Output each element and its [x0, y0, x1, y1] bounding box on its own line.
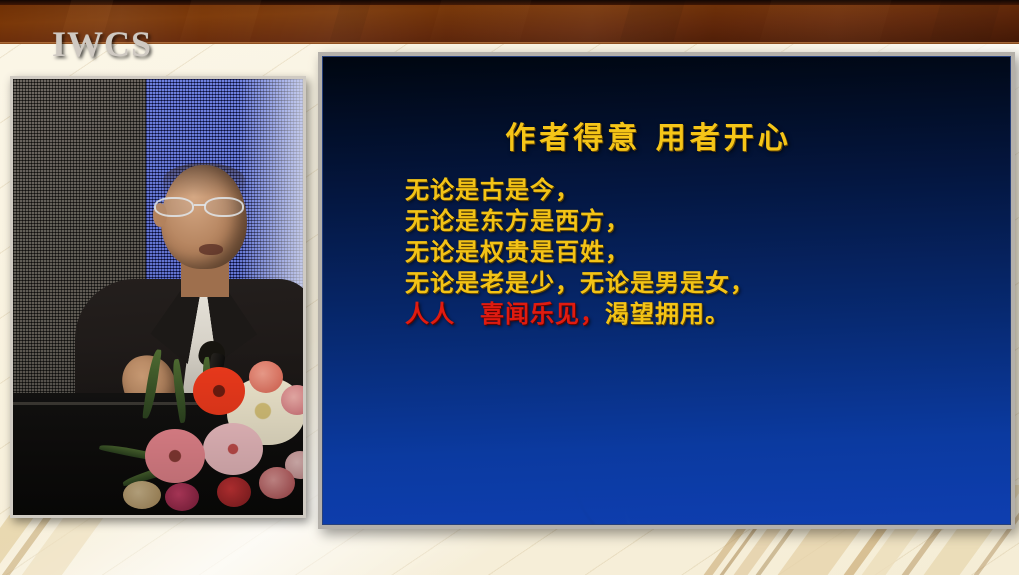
video-frame: IWCS — [0, 0, 1019, 575]
slide-body-segment: 无论是权贵是百姓， — [405, 238, 630, 266]
slide-body-segment: 喜闻乐见， — [480, 300, 605, 328]
presentation-slide-frame: 作者得意 用者开心 无论是古是今，无论是东方是西方，无论是权贵是百姓，无论是老是… — [318, 52, 1015, 529]
photo-vignette — [13, 79, 303, 515]
slide-body-segment: 无论是古是今， — [405, 176, 580, 204]
slide-body-line: 无论是古是今， — [405, 175, 980, 206]
banner-bottom-edge — [0, 42, 1019, 44]
slide-body-segment: 无论是东方是西方， — [405, 207, 630, 235]
top-banner — [0, 0, 1019, 44]
presentation-slide: 作者得意 用者开心 无论是古是今，无论是东方是西方，无论是权贵是百姓，无论是老是… — [322, 56, 1011, 525]
slide-body-text: 无论是古是今，无论是东方是西方，无论是权贵是百姓，无论是老是少，无论是男是女，人… — [405, 175, 980, 330]
speaker-photo-frame — [10, 76, 306, 518]
speaker-photo — [13, 79, 303, 515]
slide-body-segment: 渴望拥用。 — [605, 300, 730, 328]
slide-body-line: 无论是权贵是百姓， — [405, 237, 980, 268]
slide-title: 作者得意 用者开心 — [323, 113, 1010, 157]
slide-body-segment: 无论是老是少，无论是男是女， — [405, 269, 755, 297]
slide-body-segment — [455, 300, 480, 328]
slide-body-segment: 人人 — [405, 300, 455, 328]
slide-body-line: 无论是老是少，无论是男是女， — [405, 268, 980, 299]
slide-body-line: 无论是东方是西方， — [405, 206, 980, 237]
slide-body-line: 人人 喜闻乐见，渴望拥用。 — [405, 299, 980, 330]
iwcs-logo: IWCS — [52, 26, 152, 62]
